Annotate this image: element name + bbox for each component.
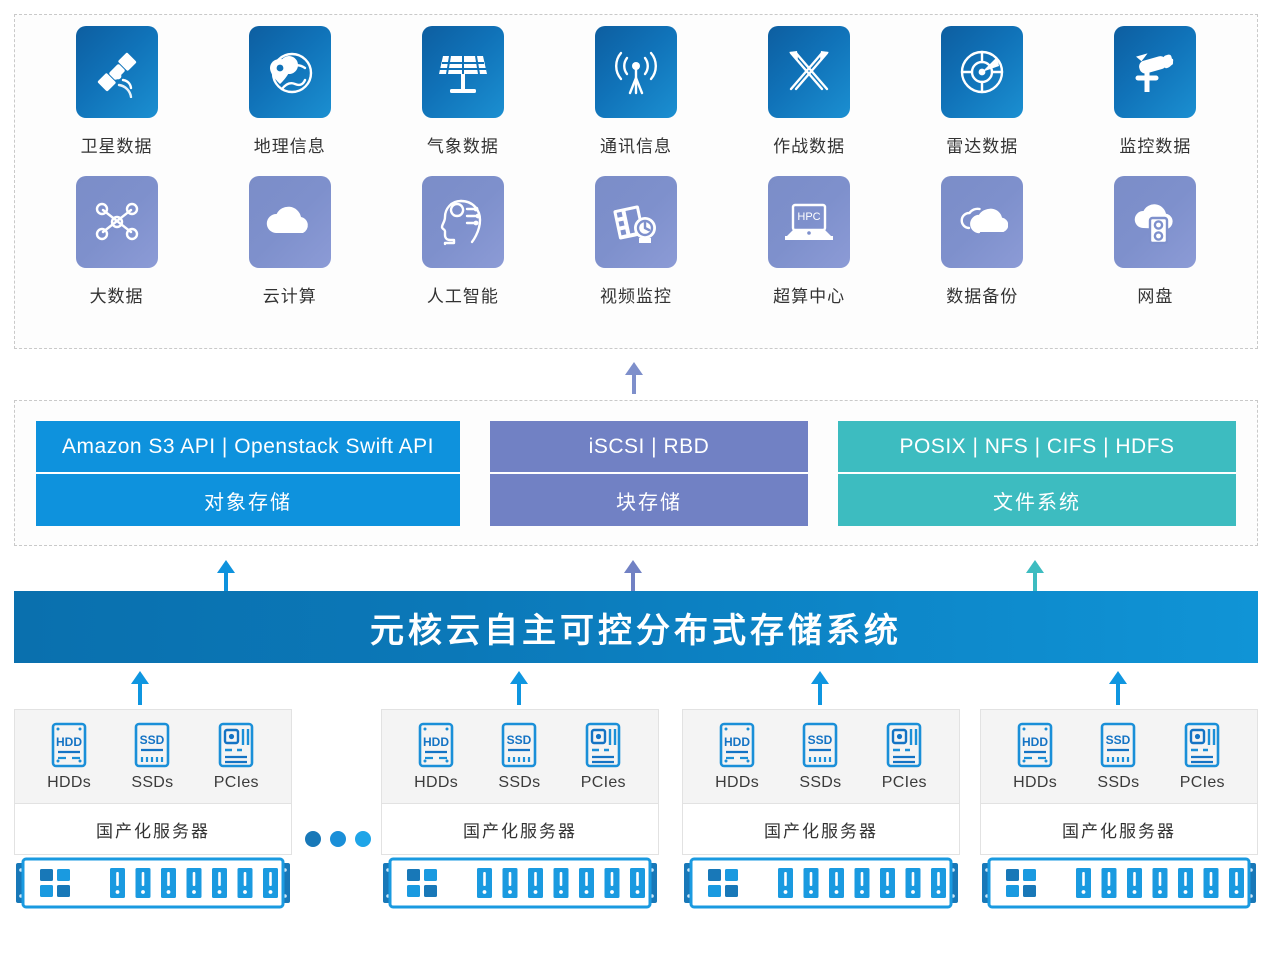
ellipsis-dot — [355, 831, 371, 847]
storage-device: SSD SSDs — [131, 721, 173, 792]
system-title: 元核云自主可控分布式存储系统 — [370, 603, 902, 652]
storage-device-row: HDD HDDs SSD SSDs PCIes — [980, 709, 1258, 803]
solar-panel-icon — [422, 26, 504, 118]
application-card[interactable]: 大数据 — [30, 176, 203, 307]
application-grid: 卫星数据 地理信息 气象数据 通讯信息 作战数据 雷达数据 — [30, 26, 1242, 326]
ssd-icon: SSD — [132, 721, 172, 769]
storage-interface-block[interactable]: Amazon S3 API | Openstack Swift API对象存储 — [36, 421, 460, 526]
pcie-icon — [216, 721, 256, 769]
hpc-laptop-icon: HPC — [768, 176, 850, 268]
svg-text:SSD: SSD — [808, 733, 833, 747]
hdd-icon: HDD — [416, 721, 456, 769]
server-node[interactable]: HDD HDDs SSD SSDs PCIes国产化服务器 — [682, 709, 960, 909]
storage-device-label: SSDs — [498, 774, 540, 792]
storage-interface-block[interactable]: POSIX | NFS | CIFS | HDFS文件系统 — [838, 421, 1236, 526]
application-label: 监控数据 — [1119, 132, 1191, 157]
radar-target-icon — [941, 26, 1023, 118]
application-card[interactable]: 云计算 — [203, 176, 376, 307]
arrow-shaft — [818, 681, 822, 705]
svg-text:HPC: HPC — [798, 211, 821, 223]
application-card[interactable]: 作战数据 — [723, 26, 896, 157]
storage-device-label: PCIes — [214, 774, 259, 792]
cctv-camera-icon — [1114, 26, 1196, 118]
cloud-icon — [249, 176, 331, 268]
storage-device-row: HDD HDDs SSD SSDs PCIes — [381, 709, 659, 803]
arrow-to-system — [1103, 671, 1133, 705]
application-label: 网盘 — [1137, 282, 1173, 307]
application-card[interactable]: 人工智能 — [376, 176, 549, 307]
pcie-icon — [1182, 721, 1222, 769]
arrow-shaft — [517, 681, 521, 705]
arrow-shaft — [632, 372, 636, 394]
storage-device-label: HDDs — [1013, 774, 1057, 792]
server-name-bar: 国产化服务器 — [381, 803, 659, 855]
pcie-icon — [583, 721, 623, 769]
application-card[interactable]: 卫星数据 — [30, 26, 203, 157]
server-rack-icon — [980, 857, 1258, 909]
storage-device: HDD HDDs — [715, 721, 759, 792]
storage-device-label: HDDs — [47, 774, 91, 792]
server-label: 国产化服务器 — [1062, 817, 1176, 842]
server-name-bar: 国产化服务器 — [682, 803, 960, 855]
application-label: 作战数据 — [773, 132, 845, 157]
storage-device-label: HDDs — [414, 774, 458, 792]
system-banner: 元核云自主可控分布式存储系统 — [14, 591, 1258, 663]
storage-device: SSD SSDs — [799, 721, 841, 792]
arrow-to-system — [504, 671, 534, 705]
arrow-to-interface — [618, 560, 648, 592]
arrow-to-system — [125, 671, 155, 705]
pcie-icon — [884, 721, 924, 769]
storage-device: HDD HDDs — [1013, 721, 1057, 792]
network-nodes-icon — [76, 176, 158, 268]
application-label: 人工智能 — [427, 282, 499, 307]
interface-api-list: Amazon S3 API | Openstack Swift API — [36, 421, 460, 474]
storage-device-label: HDDs — [715, 774, 759, 792]
storage-device: SSD SSDs — [498, 721, 540, 792]
application-label: 卫星数据 — [81, 132, 153, 157]
svg-text:SSD: SSD — [1106, 733, 1131, 747]
application-card[interactable]: 气象数据 — [376, 26, 549, 157]
server-rack-icon — [682, 857, 960, 909]
arrow-shaft — [138, 681, 142, 705]
application-label: 气象数据 — [427, 132, 499, 157]
application-card[interactable]: 通讯信息 — [549, 26, 722, 157]
geo-globe-icon — [249, 26, 331, 118]
application-label: 视频监控 — [600, 282, 672, 307]
application-card[interactable]: 地理信息 — [203, 26, 376, 157]
application-label: 通讯信息 — [600, 132, 672, 157]
application-label: 数据备份 — [946, 282, 1018, 307]
hdd-icon: HDD — [49, 721, 89, 769]
application-card[interactable]: 网盘 — [1069, 176, 1242, 307]
ellipsis-dot — [330, 831, 346, 847]
storage-device-label: SSDs — [799, 774, 841, 792]
storage-device-label: PCIes — [882, 774, 927, 792]
storage-device-label: SSDs — [1097, 774, 1139, 792]
interface-type-label: 对象存储 — [36, 474, 460, 526]
application-label: 大数据 — [90, 282, 144, 307]
satellite-icon — [76, 26, 158, 118]
storage-device: SSD SSDs — [1097, 721, 1139, 792]
server-rack-icon — [14, 857, 292, 909]
storage-device-row: HDD HDDs SSD SSDs PCIes — [682, 709, 960, 803]
hdd-icon: HDD — [1015, 721, 1055, 769]
signal-tower-icon — [595, 26, 677, 118]
storage-device: PCIes — [882, 721, 927, 792]
storage-device: PCIes — [581, 721, 626, 792]
architecture-diagram: 卫星数据 地理信息 气象数据 通讯信息 作战数据 雷达数据 — [0, 0, 1272, 957]
arrow-shaft — [1116, 681, 1120, 705]
storage-device-row: HDD HDDs SSD SSDs PCIes — [14, 709, 292, 803]
application-label: 雷达数据 — [946, 132, 1018, 157]
svg-text:HDD: HDD — [56, 735, 82, 749]
arrow-shaft — [1033, 570, 1037, 592]
storage-device-label: PCIes — [1180, 774, 1225, 792]
server-name-bar: 国产化服务器 — [980, 803, 1258, 855]
arrow-to-system — [805, 671, 835, 705]
application-card[interactable]: 数据备份 — [896, 176, 1069, 307]
storage-device-label: SSDs — [131, 774, 173, 792]
svg-text:HDD: HDD — [1022, 735, 1048, 749]
server-label: 国产化服务器 — [96, 817, 210, 842]
arrow-to-interface — [1020, 560, 1050, 592]
application-card[interactable]: HPC 超算中心 — [723, 176, 896, 307]
svg-text:HDD: HDD — [724, 735, 750, 749]
interface-api-list: POSIX | NFS | CIFS | HDFS — [838, 421, 1236, 474]
server-node[interactable]: HDD HDDs SSD SSDs PCIes国产化服务器 — [980, 709, 1258, 909]
more-nodes-ellipsis — [305, 831, 371, 847]
application-card[interactable]: 视频监控 — [549, 176, 722, 307]
storage-device: HDD HDDs — [414, 721, 458, 792]
application-card[interactable]: 雷达数据 — [896, 26, 1069, 157]
svg-text:HDD: HDD — [423, 735, 449, 749]
storage-device: PCIes — [214, 721, 259, 792]
application-label: 超算中心 — [773, 282, 845, 307]
interface-type-label: 文件系统 — [838, 474, 1236, 526]
ellipsis-dot — [305, 831, 321, 847]
arrow-shaft — [224, 570, 228, 592]
hdd-icon: HDD — [717, 721, 757, 769]
server-label: 国产化服务器 — [764, 817, 878, 842]
storage-device: PCIes — [1180, 721, 1225, 792]
server-rack-icon — [381, 857, 659, 909]
server-node[interactable]: HDD HDDs SSD SSDs PCIes国产化服务器 — [14, 709, 292, 909]
video-film-icon — [595, 176, 677, 268]
arrow-shaft — [631, 570, 635, 592]
svg-text:SSD: SSD — [507, 733, 532, 747]
server-name-bar: 国产化服务器 — [14, 803, 292, 855]
application-label: 地理信息 — [254, 132, 326, 157]
storage-device: HDD HDDs — [47, 721, 91, 792]
ai-head-icon — [422, 176, 504, 268]
svg-text:SSD: SSD — [140, 733, 165, 747]
ssd-icon: SSD — [1098, 721, 1138, 769]
interface-type-label: 块存储 — [490, 474, 808, 526]
storage-interface-blocks: Amazon S3 API | Openstack Swift API对象存储i… — [36, 421, 1236, 526]
cloud-drive-icon — [1114, 176, 1196, 268]
application-card[interactable]: 监控数据 — [1069, 26, 1242, 157]
ssd-icon: SSD — [800, 721, 840, 769]
ssd-icon: SSD — [499, 721, 539, 769]
storage-interface-block[interactable]: iSCSI | RBD块存储 — [490, 421, 808, 526]
interface-api-list: iSCSI | RBD — [490, 421, 808, 474]
arrow-to-applications — [619, 362, 649, 394]
application-label: 云计算 — [263, 282, 317, 307]
crossed-swords-icon — [768, 26, 850, 118]
server-label: 国产化服务器 — [463, 817, 577, 842]
storage-device-label: PCIes — [581, 774, 626, 792]
arrow-to-interface — [211, 560, 241, 592]
server-node[interactable]: HDD HDDs SSD SSDs PCIes国产化服务器 — [381, 709, 659, 909]
cloud-backup-icon — [941, 176, 1023, 268]
